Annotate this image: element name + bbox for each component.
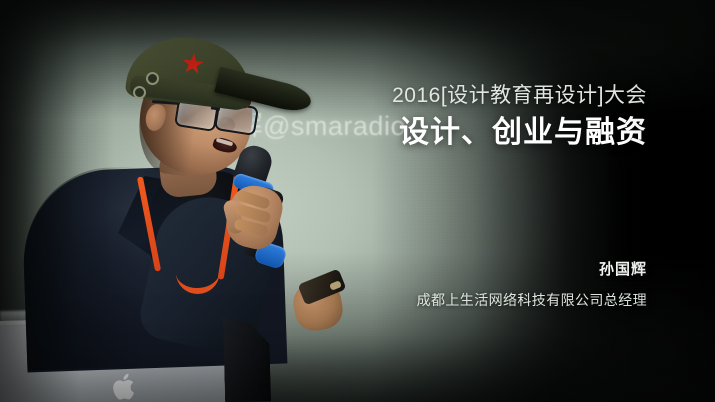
apple-logo-icon [112,372,139,402]
speaker-role: 成都上生活网络科技有限公司总经理 [417,290,647,310]
speaker-credit-block: 孙国辉 成都上生活网络科技有限公司总经理 [417,258,647,310]
cap-grommet-1 [146,72,159,85]
speaker-photo [0,0,360,402]
speaker-name: 孙国辉 [417,258,647,279]
talk-title: 设计、创业与融资 [392,115,647,151]
conference-name: 2016[设计教育再设计]大会 [392,84,647,109]
cap-grommet-2 [133,86,146,99]
slide-photo-frame: 国辉@smaradio [0,0,715,402]
slide-title-block: 2016[设计教育再设计]大会 设计、创业与融资 [392,84,647,151]
